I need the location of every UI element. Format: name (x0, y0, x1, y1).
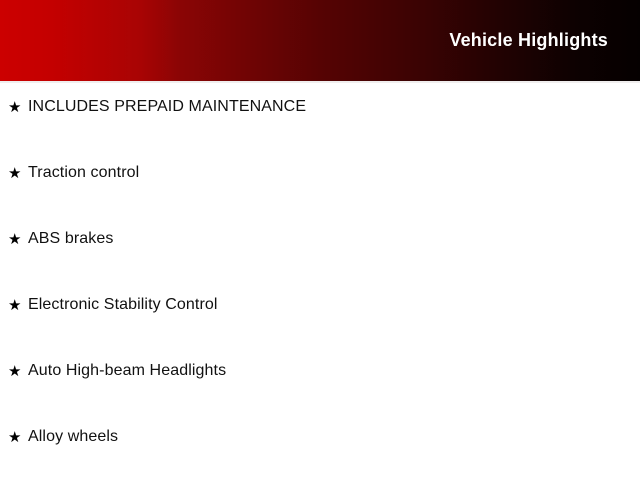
highlight-label: ABS brakes (28, 226, 113, 252)
header-separator (0, 81, 640, 83)
highlight-label: Electronic Stability Control (28, 292, 218, 318)
star-icon: ★ (8, 292, 28, 318)
page-title: Vehicle Highlights (449, 29, 608, 51)
list-item: ★ Alloy wheels (0, 424, 640, 490)
list-item: ★ Traction control (0, 160, 640, 226)
star-icon: ★ (8, 358, 28, 384)
vehicle-highlights-page: Vehicle Highlights ★ INCLUDES PREPAID MA… (0, 0, 640, 480)
list-item: ★ INCLUDES PREPAID MAINTENANCE (0, 94, 640, 160)
list-item: ★ ABS brakes (0, 226, 640, 292)
highlight-label: INCLUDES PREPAID MAINTENANCE (28, 94, 306, 120)
highlight-label: Alloy wheels (28, 424, 118, 450)
list-item: ★ Electronic Stability Control (0, 292, 640, 358)
vehicle-highlights-list: ★ INCLUDES PREPAID MAINTENANCE ★ Tractio… (0, 94, 640, 490)
highlight-label: Auto High-beam Headlights (28, 358, 226, 384)
star-icon: ★ (8, 160, 28, 186)
highlight-label: Traction control (28, 160, 139, 186)
star-icon: ★ (8, 424, 28, 450)
star-icon: ★ (8, 94, 28, 120)
list-item: ★ Auto High-beam Headlights (0, 358, 640, 424)
header-banner: Vehicle Highlights (0, 0, 640, 81)
star-icon: ★ (8, 226, 28, 252)
